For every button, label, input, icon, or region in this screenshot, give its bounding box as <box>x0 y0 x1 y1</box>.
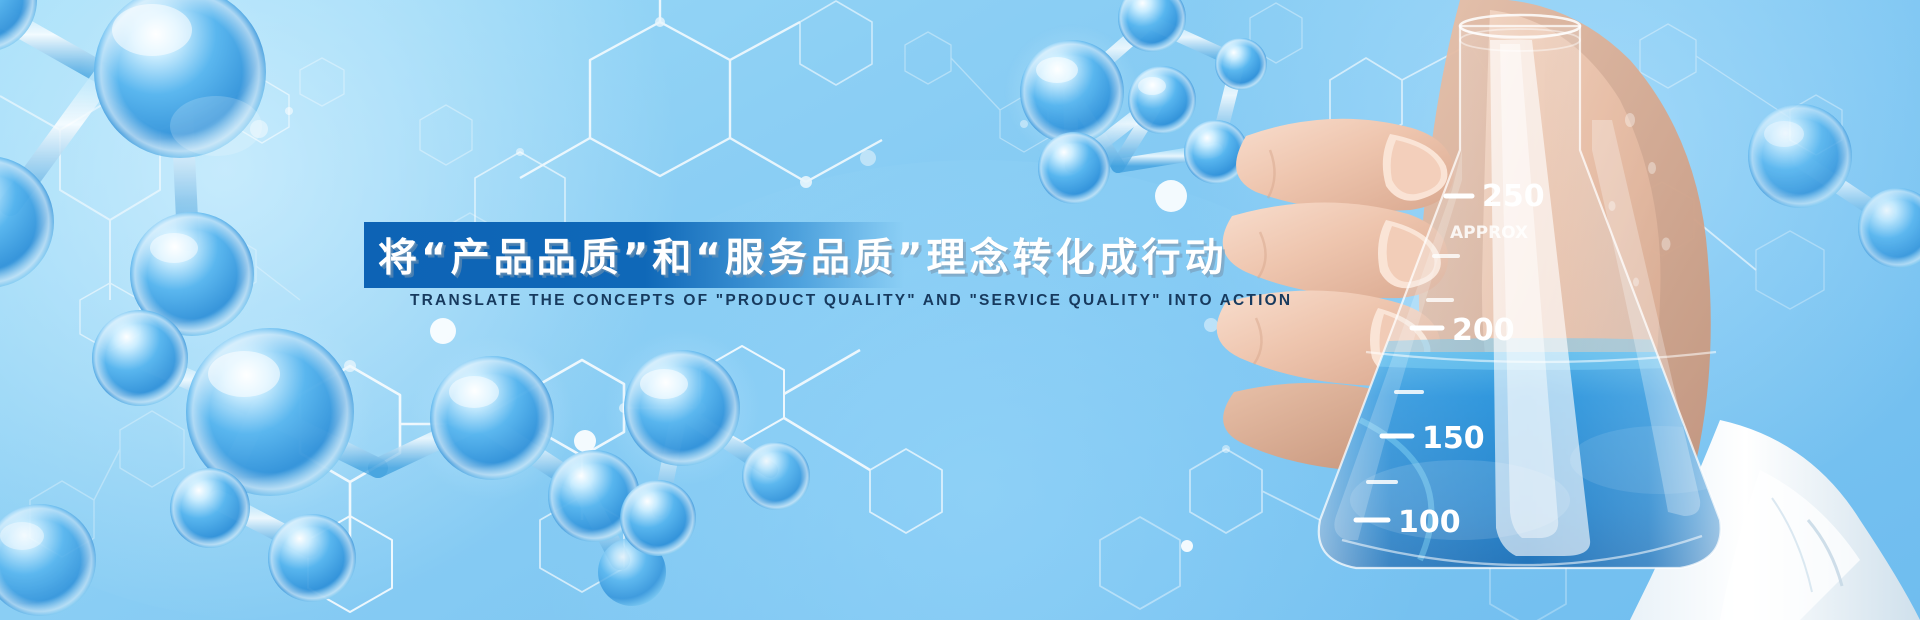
flask-mark-200: 200 <box>1452 313 1515 348</box>
molecule-sphere-bottom-left-small <box>0 470 170 620</box>
flask-mark-150: 150 <box>1422 421 1485 456</box>
flask-mark-250: 250 <box>1482 179 1545 214</box>
molecule-cluster-bottom-center <box>600 350 840 600</box>
flask-mark-250-note: APPROX <box>1450 223 1528 243</box>
hand-holding-flask-photo: 250 APPROX 200 150 100 <box>1160 0 1920 620</box>
page-subtitle: TRANSLATE THE CONCEPTS OF "PRODUCT QUALI… <box>410 292 1292 310</box>
lab-hero-banner: 250 APPROX 200 150 100 <box>0 0 1920 620</box>
flask-mark-100: 100 <box>1398 505 1461 540</box>
page-headline: 将“产品品质”和“服务品质”理念转化成行动 <box>378 224 1228 286</box>
